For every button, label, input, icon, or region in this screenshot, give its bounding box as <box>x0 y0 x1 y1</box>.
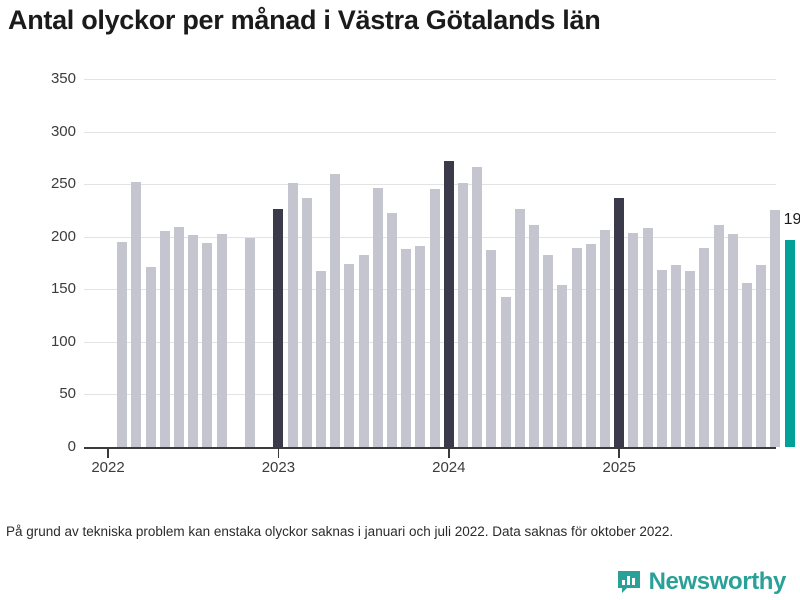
bar-2023-08[interactable] <box>373 188 383 447</box>
bar-2024-08[interactable] <box>543 255 553 447</box>
bar-2025-08[interactable] <box>714 225 724 447</box>
bar-2024-01[interactable] <box>444 161 454 447</box>
bar-2023-09[interactable] <box>387 213 397 447</box>
x-axis-tick-label: 2022 <box>68 459 148 476</box>
bar-2024-05[interactable] <box>501 297 511 447</box>
bar-2022-05[interactable] <box>160 231 170 447</box>
bar-2024-09[interactable] <box>557 285 567 447</box>
bar-chart-bubble-icon <box>616 569 642 595</box>
bar-2025-09[interactable] <box>728 234 738 447</box>
bar-2023-02[interactable] <box>288 183 298 447</box>
bar-2023-06[interactable] <box>344 264 354 447</box>
chart-footnote: På grund av tekniska problem kan enstaka… <box>6 522 776 542</box>
bar-2025-03[interactable] <box>643 228 653 447</box>
bar-2023-07[interactable] <box>359 255 369 447</box>
bar-2025-07[interactable] <box>699 248 709 447</box>
bar-2025-05[interactable] <box>671 265 681 447</box>
x-axis-tick-label: 2025 <box>579 459 659 476</box>
bar-2025-06[interactable] <box>685 271 695 447</box>
y-axis-tick-label: 250 <box>16 175 76 192</box>
bar-2025-02[interactable] <box>628 233 638 447</box>
bar-2025-10[interactable] <box>742 283 752 447</box>
bar-2023-01[interactable] <box>273 209 283 447</box>
bar-2022-08[interactable] <box>202 243 212 447</box>
y-axis-tick-label: 100 <box>16 333 76 350</box>
bar-2024-02[interactable] <box>458 183 468 447</box>
bar-2022-02[interactable] <box>117 242 127 447</box>
x-axis-tick-label: 2024 <box>409 459 489 476</box>
chart-plot-area: 050100150200250300350 2022202320242025 1… <box>0 0 800 500</box>
x-axis-baseline <box>84 447 776 449</box>
x-axis-tick-mark <box>448 449 450 458</box>
bar-2023-03[interactable] <box>302 198 312 447</box>
bar-2024-04[interactable] <box>486 250 496 447</box>
x-axis-tick-mark <box>618 449 620 458</box>
bar-2022-09[interactable] <box>217 234 227 447</box>
bar-2024-12[interactable] <box>600 230 610 447</box>
bar-2025-12[interactable] <box>770 210 780 447</box>
y-axis-tick-label: 200 <box>16 228 76 245</box>
bar-2023-10[interactable] <box>401 249 411 447</box>
logo-wordmark: Newsworthy <box>649 568 786 596</box>
y-axis-tick-label: 50 <box>16 385 76 402</box>
bar-2024-10[interactable] <box>572 248 582 447</box>
x-axis-tick-mark <box>278 449 280 458</box>
bar-2022-03[interactable] <box>131 182 141 447</box>
bar-latest[interactable] <box>785 240 795 447</box>
y-axis-tick-label: 350 <box>16 70 76 87</box>
x-axis-tick-mark <box>107 449 109 458</box>
bar-2022-04[interactable] <box>146 267 156 447</box>
bar-2024-03[interactable] <box>472 167 482 447</box>
bar-2025-11[interactable] <box>756 265 766 447</box>
newsworthy-logo[interactable]: Newsworthy <box>616 568 786 596</box>
bar-2024-06[interactable] <box>515 209 525 447</box>
bar-2025-04[interactable] <box>657 270 667 447</box>
bar-2023-04[interactable] <box>316 271 326 447</box>
x-axis-tick-label: 2023 <box>238 459 318 476</box>
gridline <box>84 79 776 80</box>
gridline <box>84 184 776 185</box>
bar-2024-11[interactable] <box>586 244 596 447</box>
gridline <box>84 132 776 133</box>
y-axis-tick-label: 150 <box>16 280 76 297</box>
bar-2023-11[interactable] <box>415 246 425 447</box>
bar-2023-12[interactable] <box>430 189 440 447</box>
last-value-label: 197 <box>784 211 800 229</box>
bar-2022-11[interactable] <box>245 238 255 447</box>
bar-2023-05[interactable] <box>330 174 340 447</box>
bar-2024-07[interactable] <box>529 225 539 447</box>
bar-2022-06[interactable] <box>174 227 184 447</box>
y-axis-tick-label: 300 <box>16 123 76 140</box>
bar-2022-07[interactable] <box>188 235 198 447</box>
y-axis-tick-label: 0 <box>16 438 76 455</box>
bar-2025-01[interactable] <box>614 198 624 447</box>
